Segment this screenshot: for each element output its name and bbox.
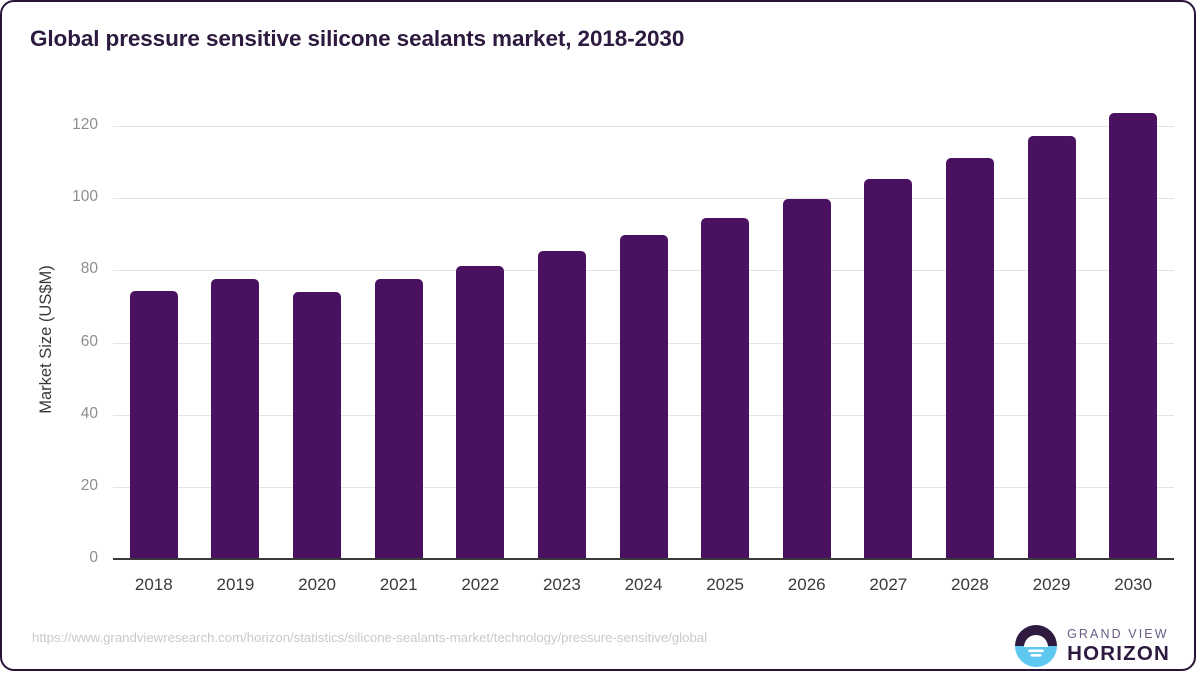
bar[interactable] (864, 179, 912, 559)
bar[interactable] (783, 199, 831, 559)
bar-column[interactable] (783, 92, 831, 559)
logo-grand-view-text: GRAND VIEW (1067, 628, 1170, 641)
bar-column[interactable] (864, 92, 912, 559)
bar-column[interactable] (538, 92, 586, 559)
x-tick-label: 2018 (114, 575, 194, 595)
bar[interactable] (1109, 113, 1157, 559)
chart-card: Global pressure sensitive silicone seala… (0, 0, 1196, 671)
horizon-sun-icon (1014, 624, 1058, 668)
y-tick-label: 40 (2, 405, 98, 423)
bar[interactable] (211, 279, 259, 559)
x-tick-label: 2025 (685, 575, 765, 595)
plot-area (113, 92, 1174, 559)
bar[interactable] (456, 266, 504, 559)
x-tick-label: 2030 (1093, 575, 1173, 595)
x-tick-label: 2021 (359, 575, 439, 595)
bar[interactable] (701, 218, 749, 559)
chart-title: Global pressure sensitive silicone seala… (30, 26, 684, 52)
y-tick-label: 80 (2, 260, 98, 278)
x-tick-label: 2029 (1012, 575, 1092, 595)
logo-wordmark: GRAND VIEW HORIZON (1067, 628, 1170, 665)
x-tick-label: 2028 (930, 575, 1010, 595)
logo-horizon-text: HORIZON (1067, 644, 1170, 665)
bar[interactable] (538, 251, 586, 560)
x-tick-label: 2022 (440, 575, 520, 595)
bar-column[interactable] (1028, 92, 1076, 559)
source-url: https://www.grandviewresearch.com/horizo… (32, 630, 707, 645)
bar[interactable] (375, 279, 423, 559)
x-tick-label: 2027 (848, 575, 928, 595)
x-tick-label: 2019 (195, 575, 275, 595)
bar[interactable] (1028, 136, 1076, 559)
bar-column[interactable] (375, 92, 423, 559)
x-tick-label: 2020 (277, 575, 357, 595)
y-tick-label: 60 (2, 333, 98, 351)
bar-column[interactable] (211, 92, 259, 559)
x-tick-label: 2026 (767, 575, 847, 595)
bar[interactable] (293, 292, 341, 559)
y-axis-tick-labels: 020406080100120 (2, 2, 102, 671)
bar[interactable] (130, 291, 178, 559)
bar-column[interactable] (946, 92, 994, 559)
bar-column[interactable] (701, 92, 749, 559)
bar[interactable] (946, 158, 994, 559)
y-tick-label: 0 (2, 549, 98, 567)
bar-column[interactable] (293, 92, 341, 559)
bar-column[interactable] (130, 92, 178, 559)
y-tick-label: 120 (2, 116, 98, 134)
x-tick-label: 2023 (522, 575, 602, 595)
bar-column[interactable] (620, 92, 668, 559)
bar[interactable] (620, 235, 668, 559)
bar-column[interactable] (456, 92, 504, 559)
bar-column[interactable] (1109, 92, 1157, 559)
x-axis-line (113, 558, 1174, 560)
y-tick-label: 100 (2, 188, 98, 206)
y-tick-label: 20 (2, 477, 98, 495)
grand-view-horizon-logo: GRAND VIEW HORIZON (1014, 622, 1170, 670)
x-tick-label: 2024 (604, 575, 684, 595)
